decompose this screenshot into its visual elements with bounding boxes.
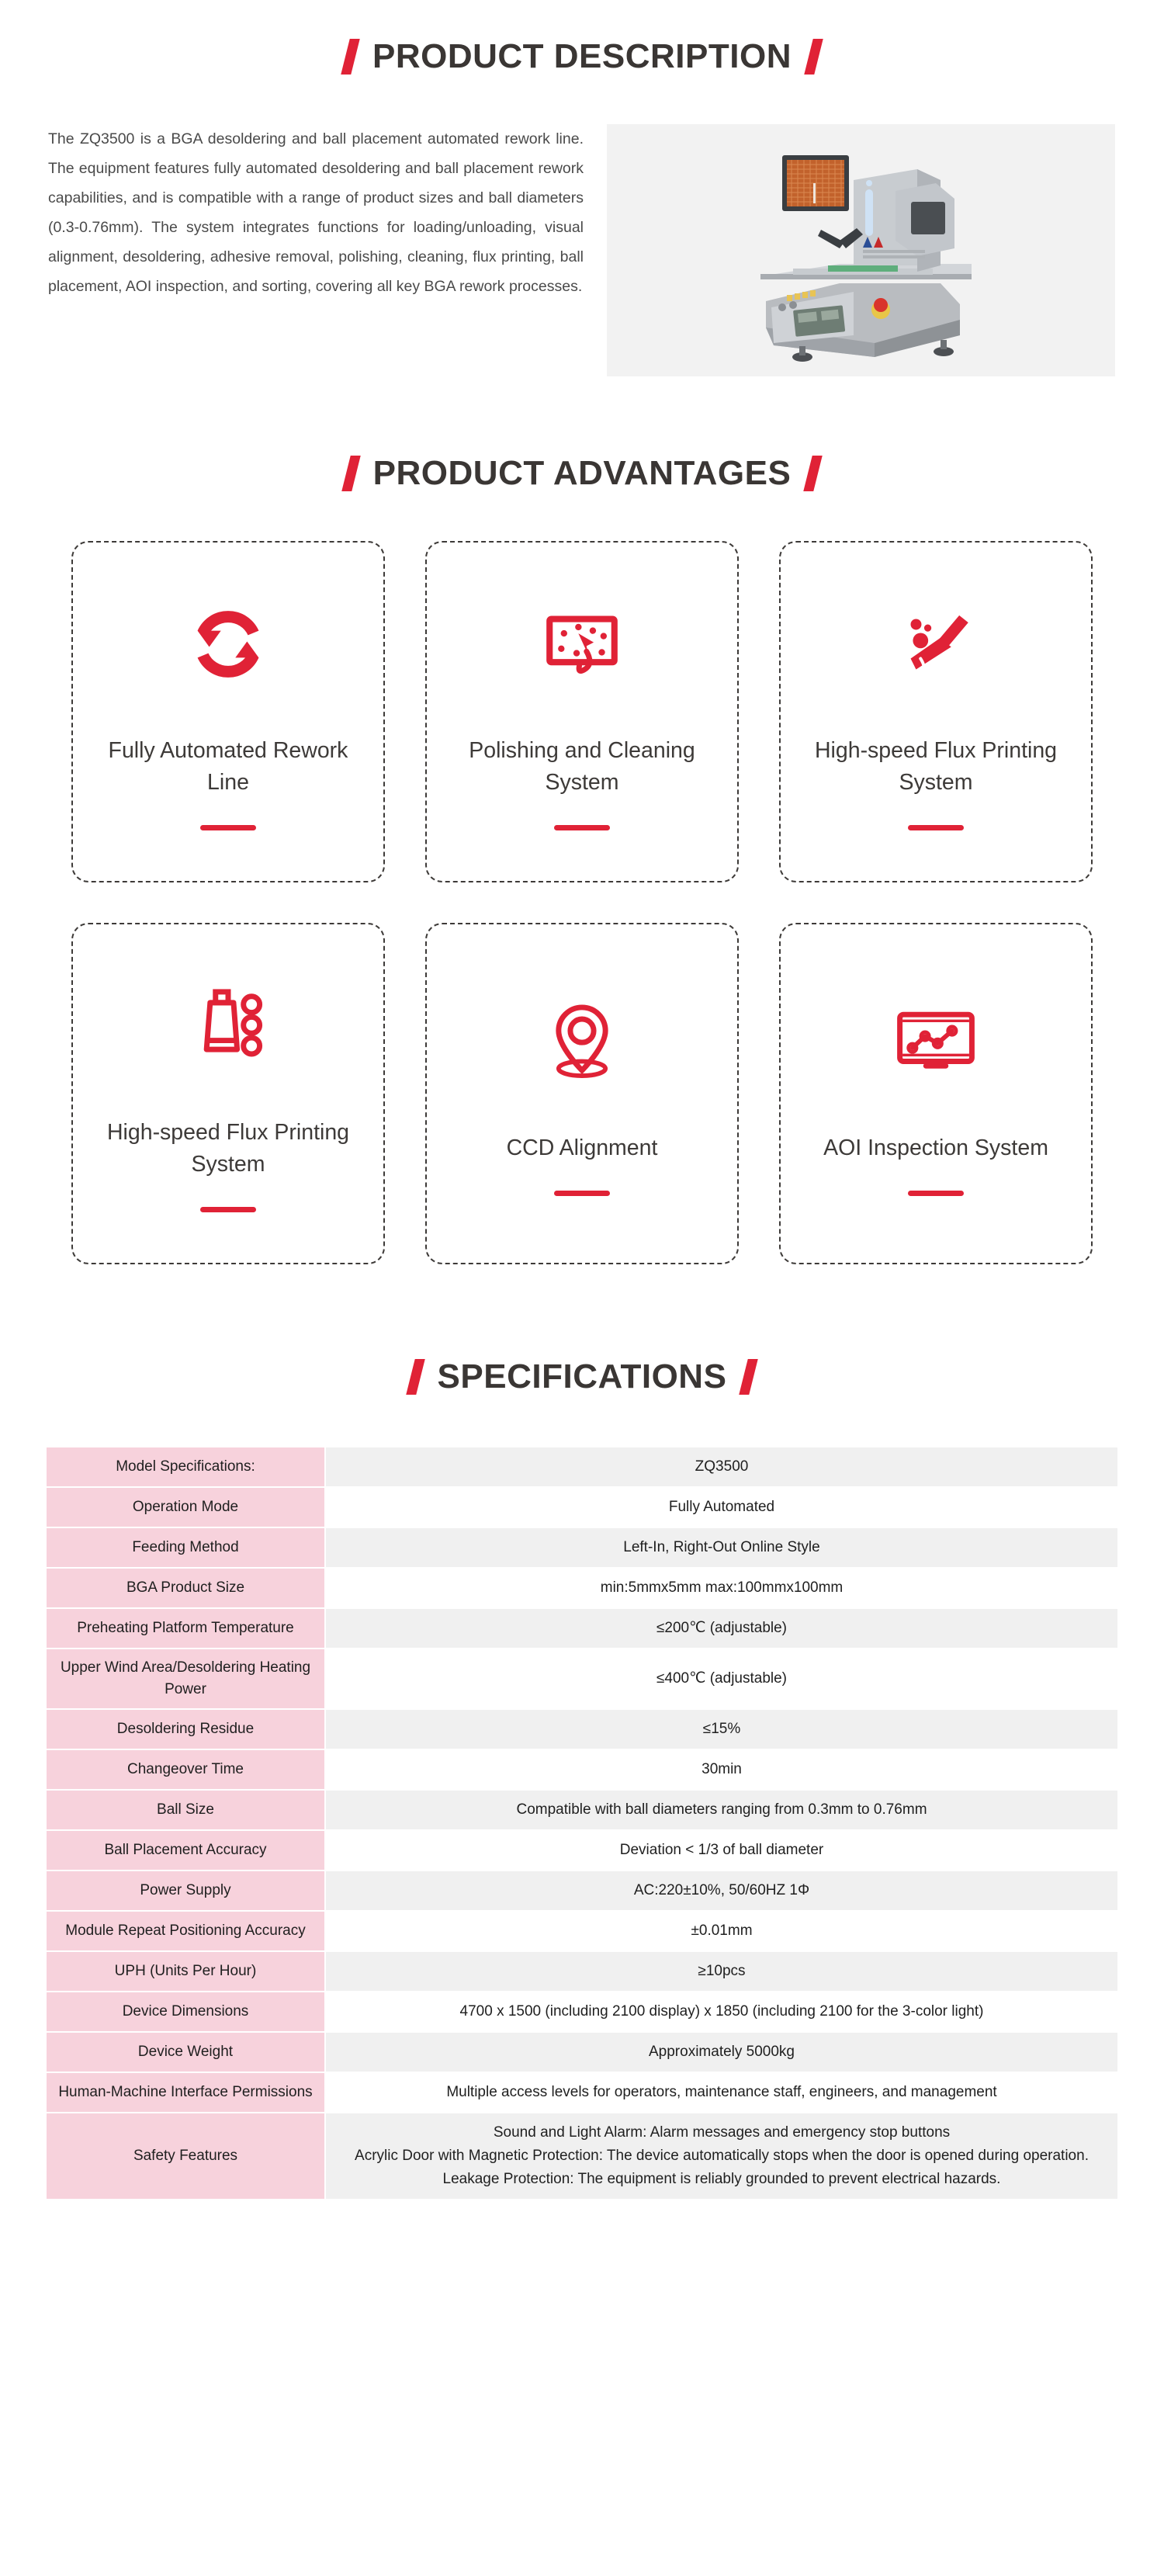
spec-label-cell: BGA Product Size bbox=[47, 1569, 326, 1607]
spec-label-cell: Human-Machine Interface Permissions bbox=[47, 2073, 326, 2112]
table-row: Desoldering Residue≤15% bbox=[47, 1710, 1117, 1749]
spec-label-cell: Feeding Method bbox=[47, 1528, 326, 1567]
spec-value-cell: 30min bbox=[326, 1750, 1117, 1789]
spec-label-cell: Preheating Platform Temperature bbox=[47, 1609, 326, 1648]
spec-value-cell: Approximately 5000kg bbox=[326, 2033, 1117, 2072]
spec-value-cell: Sound and Light Alarm: Alarm messages an… bbox=[326, 2113, 1117, 2199]
advantages-title: PRODUCT ADVANTAGES bbox=[373, 454, 792, 493]
table-row: Safety FeaturesSound and Light Alarm: Al… bbox=[47, 2113, 1117, 2199]
advantage-card[interactable]: Polishing and Cleaning System bbox=[425, 541, 739, 882]
spec-value-cell: Multiple access levels for operators, ma… bbox=[326, 2073, 1117, 2112]
specifications-section: SPECIFICATIONS bbox=[0, 1357, 1164, 1396]
slash-right-icon bbox=[804, 456, 823, 491]
spec-value-cell: Compatible with ball diameters ranging f… bbox=[326, 1791, 1117, 1829]
section-heading-specifications: SPECIFICATIONS bbox=[0, 1357, 1164, 1396]
advantage-title: AOI Inspection System bbox=[823, 1132, 1048, 1164]
advantage-title: High-speed Flux Printing System bbox=[100, 1117, 356, 1181]
advantage-title: Polishing and Cleaning System bbox=[454, 735, 710, 799]
advantage-underline bbox=[554, 825, 610, 830]
slash-right-icon bbox=[804, 39, 823, 75]
slash-left-icon bbox=[341, 39, 359, 75]
location-pin-icon bbox=[537, 991, 627, 1092]
spec-value-cell: Left-In, Right-Out Online Style bbox=[326, 1528, 1117, 1567]
table-row: BGA Product Sizemin:5mmx5mm max:100mmx10… bbox=[47, 1569, 1117, 1607]
advantage-card[interactable]: High-speed Flux Printing System bbox=[71, 923, 385, 1264]
table-row: UPH (Units Per Hour)≥10pcs bbox=[47, 1952, 1117, 1991]
advantage-underline bbox=[200, 825, 256, 830]
spec-label-cell: Ball Size bbox=[47, 1791, 326, 1829]
advantage-card[interactable]: High-speed Flux Printing System bbox=[779, 541, 1093, 882]
advantage-title: CCD Alignment bbox=[507, 1132, 658, 1164]
spec-label-cell: UPH (Units Per Hour) bbox=[47, 1952, 326, 1991]
slash-left-icon bbox=[341, 456, 360, 491]
specifications-title: SPECIFICATIONS bbox=[438, 1357, 727, 1396]
spec-value-cell: ≤400℃ (adjustable) bbox=[326, 1649, 1117, 1708]
spec-label-cell: Desoldering Residue bbox=[47, 1710, 326, 1749]
advantage-card[interactable]: CCD Alignment bbox=[425, 923, 739, 1264]
advantage-card[interactable]: Fully Automated Rework Line bbox=[71, 541, 385, 882]
table-row: Human-Machine Interface PermissionsMulti… bbox=[47, 2073, 1117, 2112]
spec-label-cell: Operation Mode bbox=[47, 1488, 326, 1527]
spec-value-cell: ±0.01mm bbox=[326, 1912, 1117, 1950]
table-row: Ball SizeCompatible with ball diameters … bbox=[47, 1791, 1117, 1829]
spec-label-cell: Model Specifications: bbox=[47, 1447, 326, 1486]
table-row: Preheating Platform Temperature≤200℃ (ad… bbox=[47, 1609, 1117, 1648]
advantage-underline bbox=[554, 1191, 610, 1196]
advantage-title: High-speed Flux Printing System bbox=[808, 735, 1064, 799]
table-row: Operation ModeFully Automated bbox=[47, 1488, 1117, 1527]
slash-left-icon bbox=[406, 1359, 424, 1395]
advantage-underline bbox=[200, 1207, 256, 1212]
description-section: PRODUCT DESCRIPTION bbox=[0, 0, 1164, 76]
table-row: Changeover Time30min bbox=[47, 1750, 1117, 1789]
advantage-underline bbox=[908, 1191, 964, 1196]
spec-label-cell: Device Weight bbox=[47, 2033, 326, 2072]
advantages-grid: Fully Automated Rework Line P bbox=[0, 541, 1164, 1264]
advantages-section: PRODUCT ADVANTAGES bbox=[0, 454, 1164, 493]
polishing-panel-icon bbox=[537, 594, 627, 695]
refresh-cycle-icon bbox=[183, 594, 273, 695]
spec-label-cell: Power Supply bbox=[47, 1871, 326, 1910]
product-page: PRODUCT DESCRIPTION The ZQ3500 is a BGA … bbox=[0, 0, 1164, 2576]
spec-value-cell: Deviation < 1/3 of ball diameter bbox=[326, 1831, 1117, 1870]
product-photo bbox=[607, 124, 1115, 376]
spec-label-cell: Module Repeat Positioning Accuracy bbox=[47, 1912, 326, 1950]
section-heading-description: PRODUCT DESCRIPTION bbox=[0, 37, 1164, 76]
description-row: The ZQ3500 is a BGA desoldering and ball… bbox=[0, 124, 1164, 376]
table-row: Model Specifications:ZQ3500 bbox=[47, 1447, 1117, 1486]
flux-tube-balls-icon bbox=[183, 976, 273, 1077]
table-row: Ball Placement AccuracyDeviation < 1/3 o… bbox=[47, 1831, 1117, 1870]
advantage-title: Fully Automated Rework Line bbox=[100, 735, 356, 799]
spec-value-cell: min:5mmx5mm max:100mmx100mm bbox=[326, 1569, 1117, 1607]
specifications-table: Model Specifications:ZQ3500Operation Mod… bbox=[47, 1446, 1117, 2200]
spec-value-cell: Fully Automated bbox=[326, 1488, 1117, 1527]
slash-right-icon bbox=[740, 1359, 758, 1395]
table-row: Feeding MethodLeft-In, Right-Out Online … bbox=[47, 1528, 1117, 1567]
table-row: Upper Wind Area/Desoldering Heating Powe… bbox=[47, 1649, 1117, 1708]
spec-value-cell: ZQ3500 bbox=[326, 1447, 1117, 1486]
spec-label-cell: Ball Placement Accuracy bbox=[47, 1831, 326, 1870]
spec-value-cell: AC:220±10%, 50/60HZ 1Φ bbox=[326, 1871, 1117, 1910]
table-row: Device Dimensions4700 x 1500 (including … bbox=[47, 1992, 1117, 2031]
spec-value-cell: 4700 x 1500 (including 2100 display) x 1… bbox=[326, 1992, 1117, 2031]
description-paragraph: The ZQ3500 is a BGA desoldering and ball… bbox=[48, 124, 584, 301]
table-row: Power SupplyAC:220±10%, 50/60HZ 1Φ bbox=[47, 1871, 1117, 1910]
monitor-chart-icon bbox=[891, 991, 981, 1092]
spec-label-cell: Changeover Time bbox=[47, 1750, 326, 1789]
spec-value-cell: ≤200℃ (adjustable) bbox=[326, 1609, 1117, 1648]
advantage-card[interactable]: AOI Inspection System bbox=[779, 923, 1093, 1264]
spec-value-cell: ≥10pcs bbox=[326, 1952, 1117, 1991]
spec-label-cell: Safety Features bbox=[47, 2113, 326, 2199]
advantage-underline bbox=[908, 825, 964, 830]
broom-cleaning-icon bbox=[891, 594, 981, 695]
section-heading-advantages: PRODUCT ADVANTAGES bbox=[0, 454, 1164, 493]
spec-label-cell: Upper Wind Area/Desoldering Heating Powe… bbox=[47, 1649, 326, 1708]
table-row: Device WeightApproximately 5000kg bbox=[47, 2033, 1117, 2072]
page-title: PRODUCT DESCRIPTION bbox=[372, 37, 792, 76]
spec-label-cell: Device Dimensions bbox=[47, 1992, 326, 2031]
spec-value-cell: ≤15% bbox=[326, 1710, 1117, 1749]
table-row: Module Repeat Positioning Accuracy±0.01m… bbox=[47, 1912, 1117, 1950]
